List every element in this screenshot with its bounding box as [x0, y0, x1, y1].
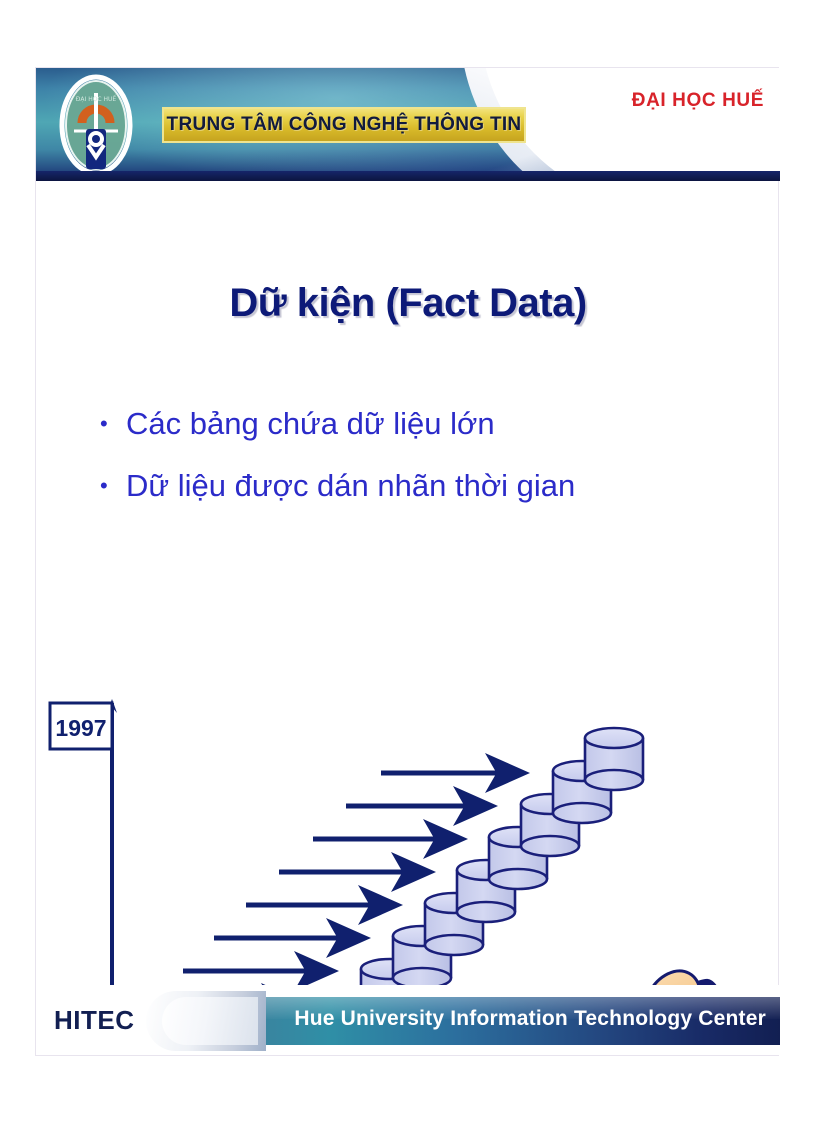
bullet-marker-icon: • [100, 467, 126, 505]
slide-canvas: ĐẠI HỌC HUẾ ĐẠI HỌC HUẾ TRUNG TÂM CÔNG N… [35, 67, 779, 1056]
footer-arc-inner [162, 997, 258, 1045]
university-name-label: ĐẠI HỌC HUẾ [632, 90, 764, 112]
bullet-text: Dữ liệu được dán nhãn thời gian [126, 467, 575, 505]
timeline-cylinder-diagram: 1997 1992 Time [36, 581, 780, 1001]
slide-body: Dữ kiện (Fact Data) • Các bảng chứa dữ l… [36, 181, 780, 987]
cylinder [585, 728, 643, 790]
page-title: Dữ kiện (Fact Data) [36, 281, 780, 326]
header-bottom-bar [36, 171, 780, 181]
cylinder-stack [268, 728, 643, 1001]
footer-center-name: Hue University Information Technology Ce… [294, 1007, 766, 1031]
bullet-marker-icon: • [100, 405, 126, 443]
footer-brand-label: HITEC [54, 1005, 135, 1036]
hue-university-logo-icon: ĐẠI HỌC HUẾ [58, 73, 134, 177]
center-banner-text: TRUNG TÂM CÔNG NGHỆ THÔNG TIN [167, 114, 522, 136]
bullet-list: • Các bảng chứa dữ liệu lớn • Dữ liệu đư… [100, 405, 740, 529]
slide-header: ĐẠI HỌC HUẾ ĐẠI HỌC HUẾ TRUNG TÂM CÔNG N… [36, 68, 780, 181]
axis-top-label: 1997 [55, 715, 106, 741]
bullet-text: Các bảng chứa dữ liệu lớn [126, 405, 495, 443]
svg-text:ĐẠI HỌC HUẾ: ĐẠI HỌC HUẾ [76, 95, 117, 103]
list-item: • Các bảng chứa dữ liệu lớn [100, 405, 740, 443]
center-banner: TRUNG TÂM CÔNG NGHỆ THÔNG TIN [162, 107, 526, 143]
slide-footer: HITEC Hue University Information Technol… [36, 985, 780, 1055]
axis-label-1997-box: 1997 [50, 703, 112, 749]
list-item: • Dữ liệu được dán nhãn thời gian [100, 467, 740, 505]
